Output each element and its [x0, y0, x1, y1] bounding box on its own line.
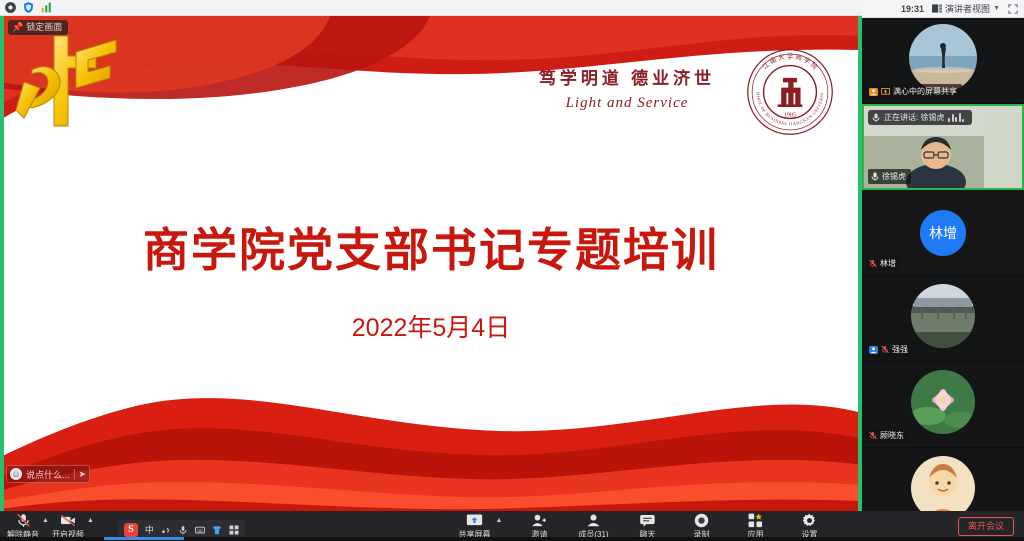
apps-icon: [748, 513, 763, 528]
settings-button[interactable]: 设置: [792, 513, 826, 540]
participant-tile-speaking[interactable]: 正在讲话: 徐锡虎 徐锡虎: [862, 104, 1024, 190]
motto-english: Light and Service: [512, 95, 742, 112]
screen-share-icon: [881, 88, 890, 96]
toolbar-right-group: 离开会议: [904, 517, 1024, 536]
send-icon[interactable]: ➤: [74, 469, 87, 480]
shield-icon[interactable]: [20, 0, 36, 16]
invite-button[interactable]: 邀请: [522, 513, 556, 540]
mic-icon: [872, 113, 880, 122]
mic-muted-icon: [881, 345, 889, 354]
panel-header: 19:31 演讲者视图 ▼: [862, 0, 1024, 18]
clock: 19:31: [901, 4, 924, 14]
participant-name: 强强: [892, 344, 908, 355]
speaking-label: 正在讲话: 徐锡虎: [884, 112, 944, 123]
chevron-down-icon: ▼: [993, 5, 1000, 12]
avatar: 林增: [920, 210, 966, 256]
participant-name: 满心中的屏幕共享: [893, 86, 957, 97]
mic-muted-icon: [869, 431, 877, 440]
participant-name-tag: 满心中的屏幕共享: [866, 84, 962, 99]
tile-thumbnail: [862, 448, 1024, 511]
host-icon: [869, 88, 878, 96]
participants-button[interactable]: 成员(31): [576, 513, 610, 540]
meeting-window: 📌 锁定画面: [0, 0, 1024, 541]
participant-name-tag: 强强: [866, 342, 913, 357]
pin-icon: 📌: [12, 23, 23, 32]
slide-date: 2022年5月4日: [0, 308, 862, 344]
slide-title: 商学院党支部书记专题培训: [0, 214, 862, 280]
screen-share-border-right: [858, 16, 862, 511]
invite-icon: [531, 513, 548, 528]
unmute-button[interactable]: 解除静音: [6, 513, 40, 540]
toolbar-left-group: 解除静音 ▲ 开启视频 ▲ S 中: [0, 513, 380, 540]
participant-tile[interactable]: 强强: [862, 276, 1024, 362]
slide-top-banner: 笃学明道 德业济世 Light and Service 1985 江 南 大 学…: [0, 16, 862, 146]
mic-muted-icon: [869, 259, 877, 268]
slide-bottom-banner: [0, 361, 862, 511]
video-off-icon: [60, 513, 76, 528]
school-motto: 笃学明道 德业济世 Light and Service: [512, 64, 742, 112]
audio-wave-icon: [948, 113, 964, 122]
apps-button[interactable]: 应用: [738, 513, 772, 540]
gear-icon: [802, 513, 817, 528]
university-seal-icon: 1985 江 南 大 学 商 学 院 SCHOOL OF BUSINESS JI…: [746, 48, 834, 136]
participant-tile[interactable]: 顾晓东: [862, 362, 1024, 448]
chat-input-placeholder[interactable]: 说点什么...: [26, 468, 70, 481]
browser-favicon-strip: [0, 0, 862, 16]
stage-chat-composer[interactable]: ☺ 说点什么... ➤: [6, 465, 90, 483]
participants-icon: [585, 513, 602, 528]
mic-icon: [871, 172, 879, 181]
toolbox-icon[interactable]: [229, 525, 239, 535]
mic-icon[interactable]: [178, 525, 188, 535]
lock-screen-label: 锁定画面: [26, 23, 62, 32]
chat-icon: [639, 513, 656, 528]
lock-screen-badge[interactable]: 📌 锁定画面: [8, 20, 68, 35]
punctuation-icon[interactable]: [161, 525, 171, 535]
participant-name-tag: 顾晓东: [866, 428, 909, 443]
chart-icon[interactable]: [38, 0, 54, 16]
view-mode-label: 演讲者视图: [945, 2, 990, 15]
shared-screen-stage: 📌 锁定画面: [0, 16, 862, 511]
record-icon: [694, 513, 709, 528]
participant-tile[interactable]: 林增 林增: [862, 190, 1024, 276]
speaking-indicator: 正在讲话: 徐锡虎: [868, 110, 972, 125]
shirt-icon[interactable]: [212, 525, 222, 535]
view-mode-switch[interactable]: 演讲者视图 ▼: [932, 2, 1000, 15]
participant-name-tag: 徐锡虎: [868, 169, 911, 184]
participant-tiles[interactable]: 满心中的屏幕共享: [862, 18, 1024, 511]
chat-button[interactable]: 聊天: [630, 513, 664, 540]
start-video-button[interactable]: 开启视频: [51, 513, 85, 540]
participant-tile[interactable]: [862, 448, 1024, 511]
motto-chinese: 笃学明道 德业济世: [512, 64, 742, 89]
sogou-logo-icon[interactable]: S: [124, 523, 138, 537]
smiley-icon[interactable]: ☺: [10, 468, 22, 480]
participant-name-tag: 林增: [866, 256, 901, 271]
audio-options-caret-icon[interactable]: ▲: [42, 517, 49, 524]
screen-share-border-left: [0, 16, 4, 511]
toolbar-center-group: 共享屏幕 ▲ 邀请: [380, 513, 904, 540]
participant-tile[interactable]: 满心中的屏幕共享: [862, 18, 1024, 104]
speaker-view-icon: [932, 4, 942, 13]
host-icon: [869, 346, 878, 354]
taskbar-active-app-indicator: [104, 537, 184, 540]
keyboard-icon[interactable]: [195, 525, 205, 535]
record-button[interactable]: 录制: [684, 513, 718, 540]
participant-name: 徐锡虎: [882, 171, 906, 182]
participants-panel: 19:31 演讲者视图 ▼: [862, 0, 1024, 511]
camera-icon[interactable]: [2, 0, 18, 16]
video-options-caret-icon[interactable]: ▲: [87, 517, 94, 524]
leave-meeting-button[interactable]: 离开会议: [958, 517, 1014, 536]
screen-share-icon: [466, 513, 483, 528]
expand-icon[interactable]: [1008, 4, 1018, 14]
share-options-caret-icon[interactable]: ▲: [496, 517, 503, 524]
ime-mode-label[interactable]: 中: [145, 523, 154, 536]
svg-text:1985: 1985: [784, 113, 796, 119]
mic-muted-icon: [16, 513, 31, 528]
party-emblem-icon: [10, 22, 150, 137]
participant-name: 顾晓东: [880, 430, 904, 441]
participant-name: 林增: [880, 258, 896, 269]
share-screen-button[interactable]: 共享屏幕: [458, 513, 492, 540]
